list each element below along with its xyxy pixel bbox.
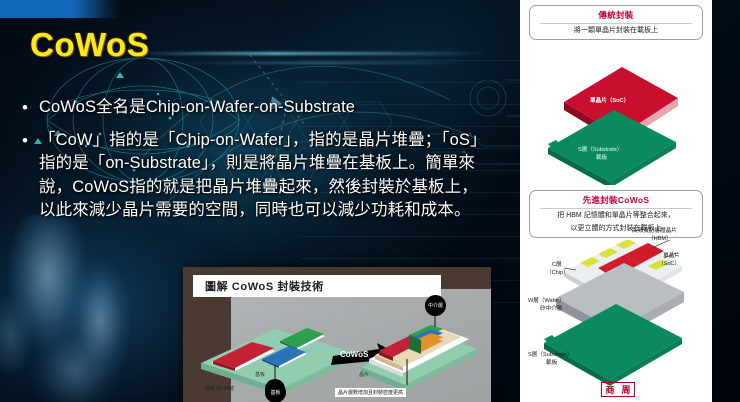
substrate-label-2: 載板 xyxy=(546,360,557,368)
wafer-label-2: 矽中介層 xyxy=(540,306,562,314)
traditional-title: 傳統封裝 xyxy=(530,6,702,23)
logo-char-2: 周 xyxy=(618,383,634,396)
bullet-list: • CoWoS全名是Chip-on-Wafer-on-Substrate • 「… xyxy=(22,96,492,232)
infographic-panel: 傳統封裝 將一顆單晶片封裝在載板上 單晶片（SoC） S層（Substrate）… xyxy=(520,0,712,402)
figure-right-callout: 中介層 xyxy=(425,295,446,316)
bullet-item-2: • 「CoW」指的是「Chip-on-Wafer」，指的是晶片堆疊；「oS」指的… xyxy=(22,129,492,223)
figure-cowos-illustration: 圖解 CoWoS 封裝技術 xyxy=(183,267,491,402)
figure-right-caption: 晶片層數增加且封裝密度更高 xyxy=(335,388,406,397)
slide-title: CoWoS xyxy=(30,26,149,64)
soc-label-2: （SoC） xyxy=(658,261,680,269)
bullet-marker: • xyxy=(22,96,39,120)
figure-arrow-label: CoWoS xyxy=(340,350,368,359)
figure-left-callout: 基板 xyxy=(265,382,286,402)
advanced-title: 先進封裝CoWoS xyxy=(530,191,702,208)
substrate-layer-label: S層（Substrate） xyxy=(578,147,622,155)
traditional-subtitle: 將一顆單晶片封裝在載板上 xyxy=(530,24,702,39)
traditional-card: 傳統封裝 將一顆單晶片封裝在載板上 xyxy=(529,5,703,40)
logo-char-1: 商 xyxy=(602,383,618,396)
figure-left-substrate-label: 基板 xyxy=(255,371,265,378)
slide-root: CoWoS • CoWoS全名是Chip-on-Wafer-on-Substra… xyxy=(0,0,740,402)
figure-left-caption: 傳統 2D 封裝 xyxy=(205,385,234,392)
soc-layer-label: 單晶片（SoC） xyxy=(590,98,629,106)
bullet-text: 「CoW」指的是「Chip-on-Wafer」，指的是晶片堆疊；「oS」指的是「… xyxy=(39,129,492,223)
wafer-label-1: W層（Wafer） xyxy=(528,298,565,306)
glow-line xyxy=(130,52,490,55)
advanced-subtitle-1: 把 HBM 記憶體和單晶片等整合起來， xyxy=(530,209,702,224)
bullet-marker: • xyxy=(22,129,39,223)
bullet-text: CoWoS全名是Chip-on-Wafer-on-Substrate xyxy=(39,96,355,120)
publisher-logo: 商 周 xyxy=(601,382,635,397)
figure-right-substrate-label: 晶片 xyxy=(359,371,369,378)
glow-line-secondary xyxy=(170,62,470,64)
traditional-diagram xyxy=(526,40,706,185)
soc-label-1: 單晶片 xyxy=(663,253,680,261)
hbm-label-1: 高頻寬記憶體晶片 xyxy=(632,228,677,236)
substrate-label-1: S層（Substrate） xyxy=(528,352,572,360)
substrate-layer-label-2: 載板 xyxy=(596,155,607,163)
figure-header-text: 圖解 CoWoS 封裝技術 xyxy=(205,278,324,294)
top-left-blue-tab xyxy=(0,0,118,18)
hbm-label-2: （HBM） xyxy=(648,236,672,244)
bullet-item-1: • CoWoS全名是Chip-on-Wafer-on-Substrate xyxy=(22,96,492,120)
chip-label-1: C層 xyxy=(552,262,562,270)
chip-label-2: （Chip） xyxy=(546,270,569,278)
